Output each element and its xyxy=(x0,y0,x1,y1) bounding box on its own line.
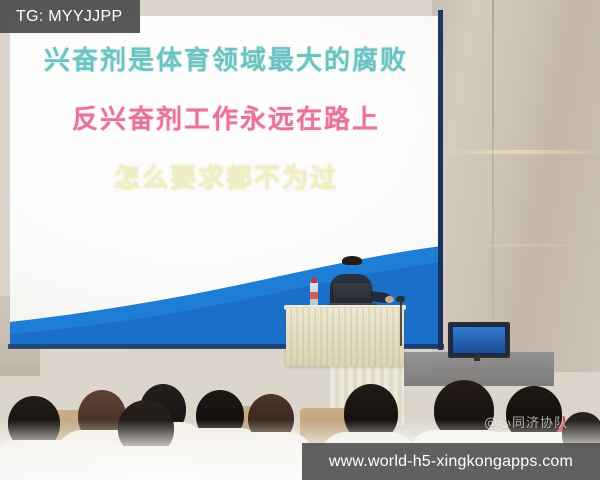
overlay-watermark: @心同济协队 xyxy=(484,412,568,431)
laptop xyxy=(333,283,371,305)
screenshot-root: 兴奋剂是体育领域最大的腐败 反兴奋剂工作永远在路上 怎么要求都不为过 xyxy=(0,0,600,480)
bottle-label xyxy=(310,292,318,299)
lecture-hall-photo: 兴奋剂是体育领域最大的腐败 反兴奋剂工作永远在路上 怎么要求都不为过 xyxy=(0,0,600,480)
slide-line-1: 兴奋剂是体育领域最大的腐败 xyxy=(10,40,442,77)
url-watermark-bar: www.world-h5-xingkongapps.com xyxy=(302,443,600,480)
wall-seam xyxy=(492,0,494,372)
speaker-hand xyxy=(385,296,394,303)
telegram-watermark-badge: TG: MYYJJPP xyxy=(0,0,140,33)
screen-frame-right xyxy=(438,10,443,350)
right-wall-panel xyxy=(432,0,600,372)
slide-line-3: 怎么要求都不为过 xyxy=(10,158,442,195)
speaker-hair xyxy=(342,256,362,265)
wall-trim-upper xyxy=(432,150,600,154)
bottle-cap xyxy=(311,278,317,283)
slide-line-2: 反兴奋剂工作永远在路上 xyxy=(10,99,442,136)
wall-trim-lower xyxy=(432,244,600,247)
slide-text-block: 兴奋剂是体育领域最大的腐败 反兴奋剂工作永远在路上 怎么要求都不为过 xyxy=(10,40,442,195)
telegram-watermark-label: TG: MYYJJPP xyxy=(0,8,122,26)
url-watermark-label: www.world-h5-xingkongapps.com xyxy=(329,453,573,471)
microphone-head xyxy=(396,296,405,302)
